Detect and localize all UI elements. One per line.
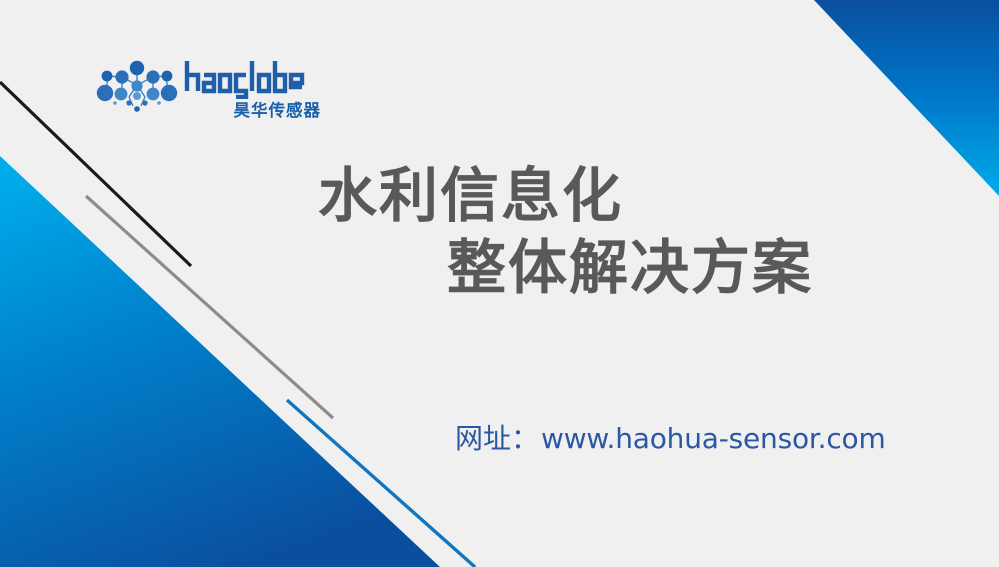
page-title: 水利信息化 整体解决方案 bbox=[0, 160, 999, 304]
haoglobe-wordmark bbox=[184, 57, 324, 99]
blue-diagonal-line bbox=[287, 400, 475, 567]
company-logo: 昊华传感器 bbox=[96, 57, 321, 125]
website-url[interactable]: www.haohua-sensor.com bbox=[541, 422, 886, 455]
haoglobe-molecule-mark bbox=[96, 59, 178, 115]
logo-chinese-name: 昊华传感器 bbox=[196, 97, 321, 121]
website-line: 网址： www.haohua-sensor.com bbox=[455, 417, 886, 457]
title-line-1: 水利信息化 bbox=[318, 160, 999, 232]
title-line-2: 整体解决方案 bbox=[447, 232, 999, 304]
website-label: 网址： bbox=[455, 417, 539, 457]
presentation-title-slide: 昊华传感器 水利信息化 整体解决方案 网址： www.haohua-sensor… bbox=[0, 0, 999, 567]
